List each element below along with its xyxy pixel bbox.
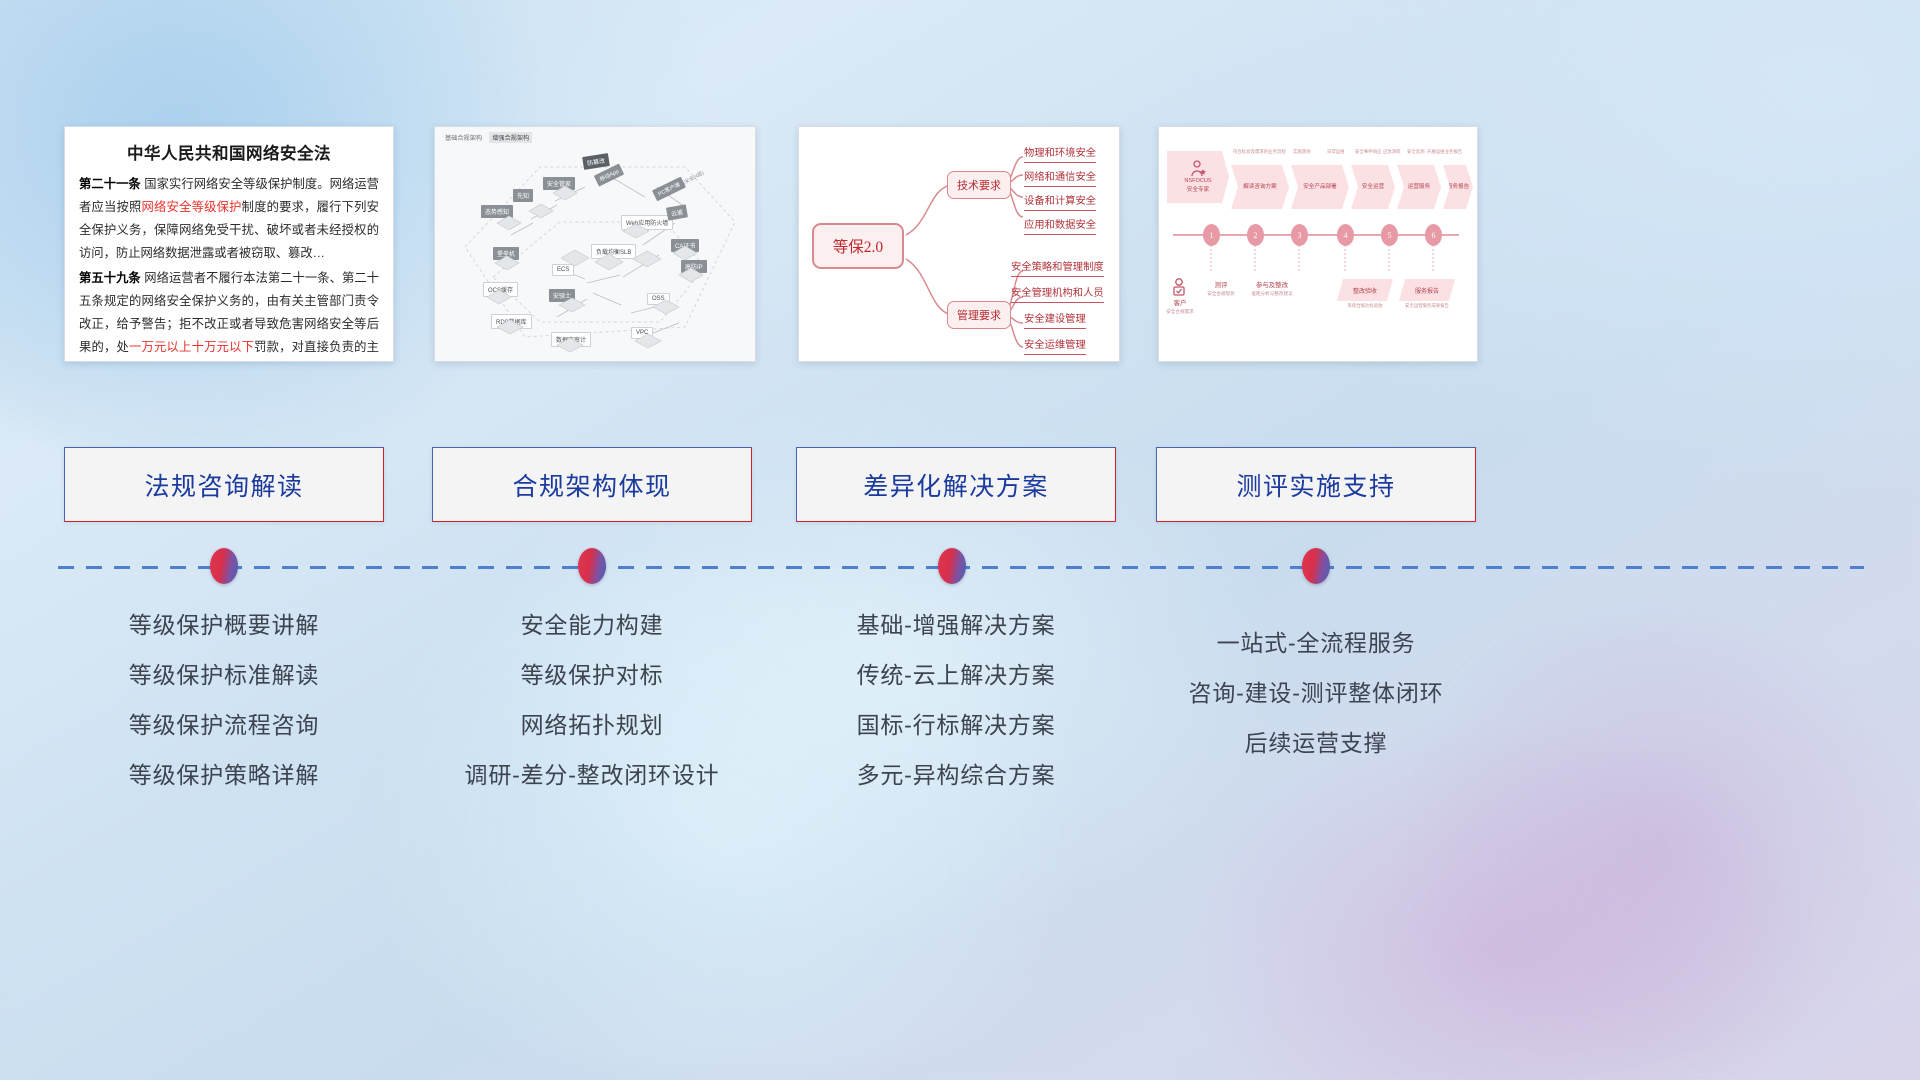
timeline-dot-4[interactable] [1302,548,1330,584]
node-security-butler: 安全管家 [543,177,575,190]
node-rds: RDS数据库 [491,314,532,329]
customer-check-icon [1169,277,1189,297]
mindmap: 等保2.0 技术要求 管理要求 物理和环境安全 网络和通信安全 设备和计算安全 … [799,127,1119,361]
node-xianzhi: 先知 [513,189,533,202]
detail-lists-row: 等级保护概要讲解 等级保护标准解读 等级保护流程咨询 等级保护策略详解 安全能力… [0,600,1920,840]
node-slb: 负载均衡SLB [591,244,636,259]
timeline-dot-3[interactable] [938,548,966,584]
roadmap-step-4: 4 [1337,224,1354,246]
section-header-label-4: 测评实施支持 [1236,467,1395,503]
list-item: 调研-差分-整改闭环设计 [432,750,752,800]
law-article-21: 第二十一条 国家实行网络安全等级保护制度。网络运营者应当按照网络安全等级保护制度… [79,173,379,265]
section-header-label-3: 差异化解决方案 [863,467,1049,503]
roadmap-step-6: 6 [1425,224,1442,246]
mindmap-branch-management: 管理要求 [947,301,1011,329]
roadmap-step-3: 3 [1291,224,1308,246]
node-oss: OSS [647,293,670,305]
section-headers-row: 法规咨询解读 合规架构体现 差异化解决方案 测评实施支持 [0,447,1920,522]
node-vpc: VPC [631,327,653,339]
bottom-assessment-label: 测评 [1215,282,1228,289]
mindmap-leaf-operations-management: 安全运维管理 [1024,336,1086,355]
list-item: 咨询-建设-测评整体闭环 [1156,668,1476,718]
list-item: 等级保护概要讲解 [64,600,384,650]
detail-list-1: 等级保护概要讲解 等级保护标准解读 等级保护流程咨询 等级保护策略详解 [64,600,384,800]
roadmap-bottom-acceptance-sub: 等保合规达标验收 [1335,303,1395,310]
list-item: 后续运营支撑 [1156,718,1476,768]
card-mindmap-dengbao[interactable]: 等保2.0 技术要求 管理要求 物理和环境安全 网络和通信安全 设备和计算安全 … [798,126,1120,362]
list-item: 等级保护对标 [432,650,752,700]
timeline [58,566,1864,569]
section-header-differentiated-solution[interactable]: 差异化解决方案 [796,447,1116,522]
mindmap-branch-technical: 技术要求 [947,171,1011,199]
list-item: 一站式-全流程服务 [1156,618,1476,668]
detail-list-2: 安全能力构建 等级保护对标 网络拓扑规划 调研-差分-整改闭环设计 [432,600,752,800]
card-compliance-architecture[interactable]: 基础合规架构 增强合规架构 防篡改 [434,126,756,362]
section-header-regulation-consulting[interactable]: 法规咨询解读 [64,447,384,522]
bottom-assessment-sub: 安全合规现状 [1201,291,1241,298]
roadmap-step-2: 2 [1247,224,1264,246]
roadmap-bottom-acceptance: 整改验收 [1337,279,1393,301]
article-59-highlight-1: 一万元以上十万元以下 [129,340,254,354]
roadmap-bottom-assessment: 测评 安全合规现状 [1201,281,1241,298]
list-item: 等级保护策略详解 [64,750,384,800]
section-header-label-2: 合规架构体现 [512,467,671,503]
bottom-customer-sub: 安全合规需求 [1163,309,1197,316]
card-cybersecurity-law[interactable]: 中华人民共和国网络安全法 第二十一条 国家实行网络安全等级保护制度。网络运营者应… [64,126,394,362]
roadmap-diagram: NSFOCUS 安全专家 解读咨询方案 安全产品部署 安全运营 运营服务 服务报… [1159,127,1477,361]
list-item: 等级保护流程咨询 [64,700,384,750]
mindmap-leaf-org-personnel: 安全管理机构和人员 [1011,284,1104,303]
list-item: 基础-增强解决方案 [796,600,1116,650]
node-ca-certificate: CA证书 [671,239,699,252]
node-ocs-cache: OCS缓存 [483,282,518,297]
node-situation-awareness: 态势感知 [481,205,513,218]
preview-cards-row: 中华人民共和国网络安全法 第二十一条 国家实行网络安全等级保护制度。网络运营者应… [0,126,1920,366]
law-document: 中华人民共和国网络安全法 第二十一条 国家实行网络安全等级保护制度。网络运营者应… [65,127,393,362]
node-waf: Web应用防火墙 [621,215,673,230]
timeline-dot-1[interactable] [210,548,238,584]
roadmap-bottom-participation: 参与及整改 差距分析与整改建议 [1245,281,1299,298]
mindmap-leaf-application-data: 应用和数据安全 [1024,216,1096,235]
article-59-label: 第五十九条 [79,271,141,285]
bottom-participation-label: 参与及整改 [1256,282,1288,289]
node-bastion-host: 堡垒机 [493,247,519,260]
section-header-label-1: 法规咨询解读 [144,467,303,503]
mindmap-root: 等保2.0 [812,223,904,269]
architecture-diagram: 基础合规架构 增强合规架构 防篡改 [435,127,755,361]
mindmap-leaf-security-policy: 安全策略和管理制度 [1011,258,1104,277]
detail-list-4: 一站式-全流程服务 咨询-建设-测评整体闭环 后续运营支撑 [1156,618,1476,768]
section-header-compliance-architecture[interactable]: 合规架构体现 [432,447,752,522]
section-header-assessment-support[interactable]: 测评实施支持 [1156,447,1476,522]
bottom-customer-label: 客户 [1174,300,1187,307]
list-item: 多元-异构综合方案 [796,750,1116,800]
timeline-dot-2[interactable] [578,548,606,584]
node-anti-ddos-ip: 高防IP [681,260,707,273]
article-21-label: 第二十一条 [79,177,141,191]
mindmap-leaf-physical-environment: 物理和环境安全 [1024,144,1096,163]
law-article-59: 第五十九条 网络运营者不履行本法第二十一条、第二十五条规定的网络安全保护义务的，… [79,267,379,362]
node-ecs: ECS [552,264,574,276]
roadmap-bottom-report-sub: 安全运营服务成果报告 [1397,303,1457,310]
list-item: 等级保护标准解读 [64,650,384,700]
list-item: 安全能力构建 [432,600,752,650]
list-item: 传统-云上解决方案 [796,650,1116,700]
list-item: 国标-行标解决方案 [796,700,1116,750]
mindmap-leaf-device-computing: 设备和计算安全 [1024,192,1096,211]
list-item: 网络拓扑规划 [432,700,752,750]
bottom-participation-sub: 差距分析与整改建议 [1245,291,1299,298]
law-title: 中华人民共和国网络安全法 [79,140,379,164]
roadmap-bottom-report: 服务报告 [1399,279,1455,301]
mindmap-leaf-network-communication: 网络和通信安全 [1024,168,1096,187]
roadmap-step-5: 5 [1381,224,1398,246]
mindmap-leaf-construction-management: 安全建设管理 [1024,310,1086,329]
card-service-roadmap[interactable]: NSFOCUS 安全专家 解读咨询方案 安全产品部署 安全运营 运营服务 服务报… [1158,126,1478,362]
roadmap-bottom-customer: 客户 安全合规需求 [1163,299,1197,316]
detail-list-3: 基础-增强解决方案 传统-云上解决方案 国标-行标解决方案 多元-异构综合方案 [796,600,1116,800]
roadmap-step-1: 1 [1203,224,1220,246]
node-anqishi: 安骑士 [549,289,575,302]
article-21-highlight: 网络安全等级保护 [142,200,242,214]
node-db-audit: 数据库审计 [551,332,591,347]
